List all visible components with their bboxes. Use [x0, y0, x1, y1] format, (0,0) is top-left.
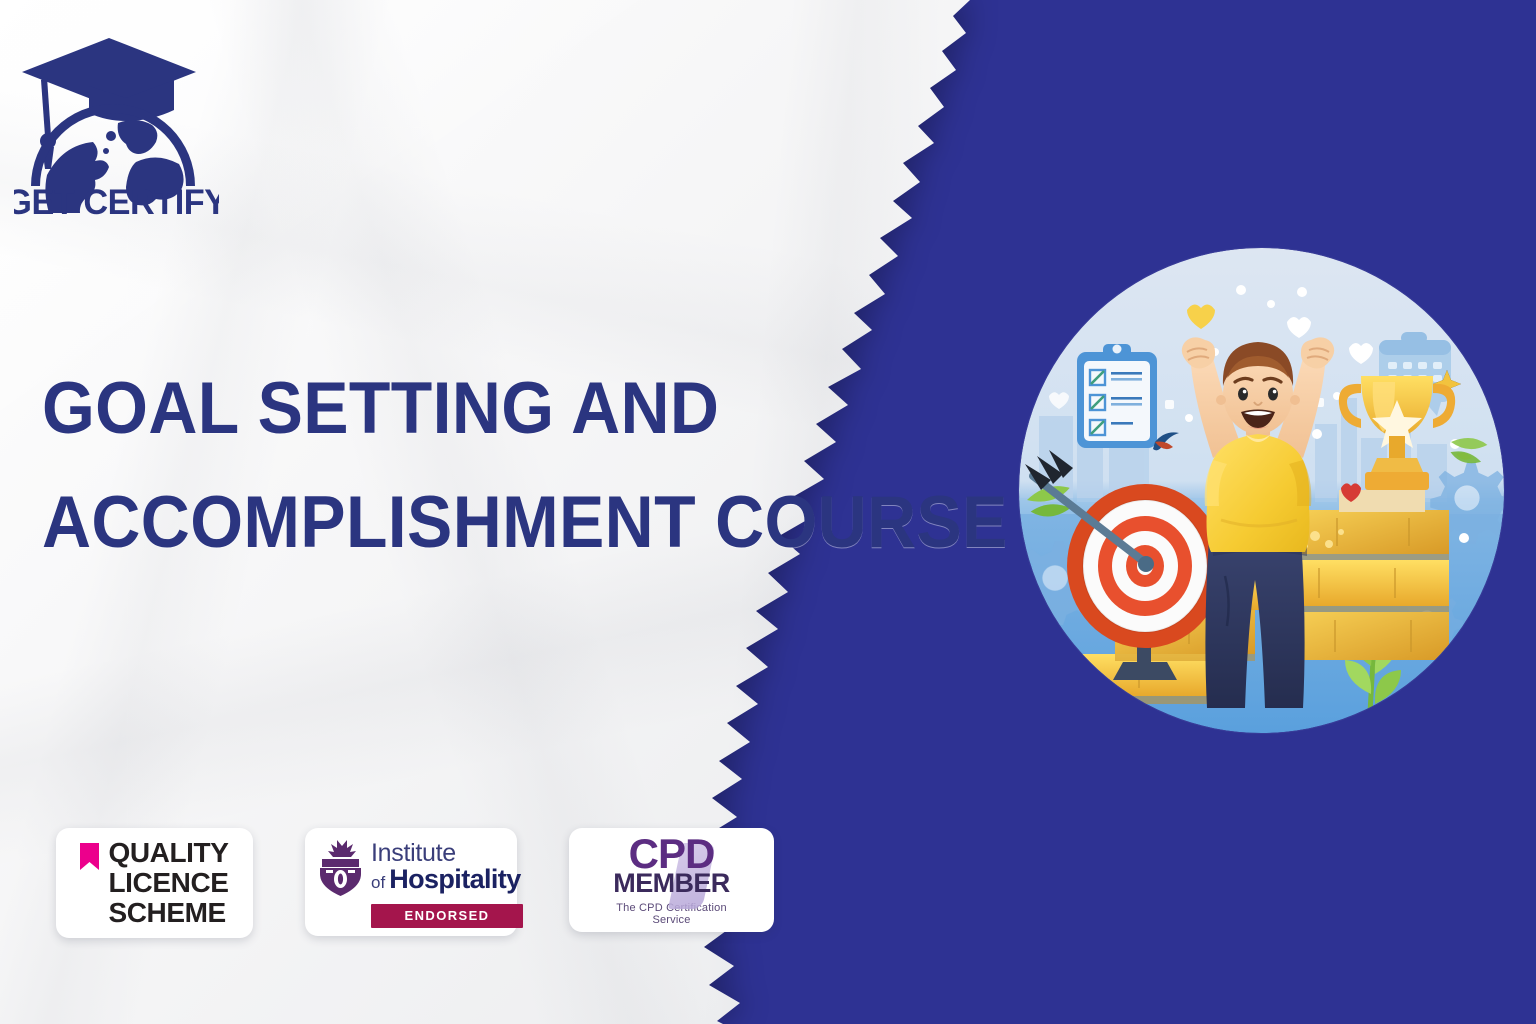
ioh-line-2: Hospitality	[389, 866, 520, 893]
badge-quality-licence-scheme[interactable]: QUALITY LICENCE SCHEME	[56, 828, 253, 938]
cpd-line-2: MEMBER	[613, 870, 729, 897]
qls-line-3: SCHEME	[108, 898, 228, 928]
logo-text: GET CERTIFY	[14, 184, 219, 219]
heraldic-crest-icon	[317, 837, 364, 897]
page-title: GOAL SETTING AND ACCOMPLISHMENT COURSE	[42, 352, 842, 580]
qls-line-1: QUALITY	[108, 838, 228, 868]
course-poster: GET CERTIFY GOAL SETTING AND ACCOMPLISHM…	[0, 0, 1536, 1024]
badge-cpd-member[interactable]: CPD MEMBER The CPD Certification Service	[569, 828, 774, 932]
qls-line-2: LICENCE	[108, 868, 228, 898]
goal-achievement-illustration	[1019, 248, 1504, 733]
brand-logo[interactable]: GET CERTIFY	[14, 24, 219, 219]
ioh-endorsed-ribbon: ENDORSED	[371, 904, 523, 928]
bookmark-icon	[80, 843, 99, 870]
ioh-of: of	[371, 874, 385, 891]
ioh-line-1: Institute	[371, 841, 521, 866]
title-line-1: GOAL SETTING AND	[42, 352, 842, 466]
cpd-sub-2: Service	[616, 914, 727, 926]
badge-institute-of-hospitality[interactable]: Institute of Hospitality ENDORSED	[305, 828, 517, 936]
accreditation-badges: QUALITY LICENCE SCHEME	[56, 828, 774, 938]
title-line-2: ACCOMPLISHMENT COURSE	[42, 466, 842, 580]
